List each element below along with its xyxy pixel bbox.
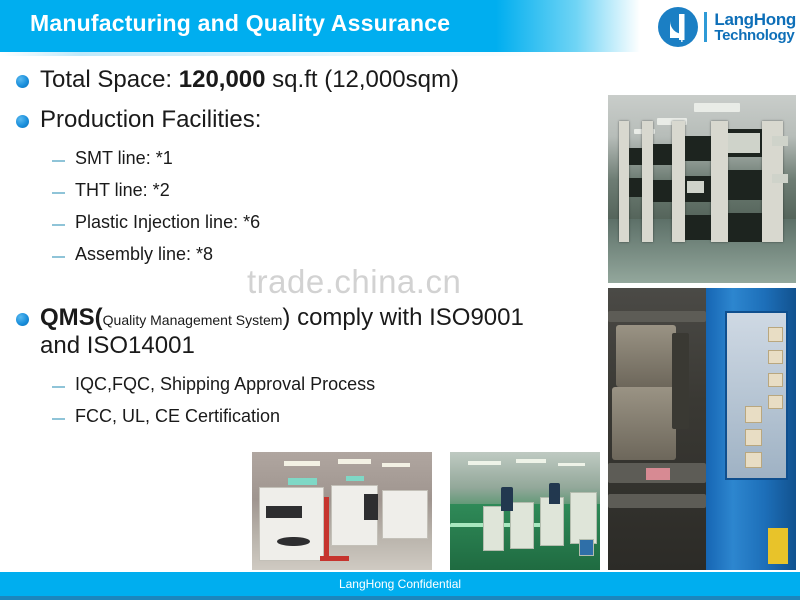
bullet-total-space-text: Total Space: 120,000 sq.ft (12,000sqm) [40, 66, 459, 94]
bullet-dot-icon [16, 313, 29, 326]
langhong-circle-logo-icon [657, 6, 699, 48]
qms-expansion: Quality Management System [103, 312, 283, 328]
dash-icon [52, 418, 65, 420]
bullet-dot-icon [16, 75, 29, 88]
bullet-production-facilities: Production Facilities: [16, 106, 261, 134]
logo-line-2: Technology [714, 28, 796, 43]
bullet-qms-text: QMS(Quality Management System) comply wi… [40, 304, 615, 361]
bullet-qms: QMS(Quality Management System) comply wi… [16, 304, 615, 361]
photo-injection-molding-machine [608, 288, 796, 570]
footer-confidential-label: LangHong Confidential [0, 577, 800, 591]
sub-item-label: Plastic Injection line: *6 [75, 212, 260, 234]
sub-item-label: FCC, UL, CE Certification [75, 406, 280, 428]
photo-smt-production-line [252, 452, 432, 570]
photo-warehouse-racking [608, 95, 796, 283]
logo-divider [704, 12, 707, 42]
dash-icon [52, 192, 65, 194]
dash-icon [52, 160, 65, 162]
dash-icon [52, 386, 65, 388]
sub-item-plastic-injection-line: Plastic Injection line: *6 [52, 212, 260, 234]
sub-item-iqc-fqc: IQC,FQC, Shipping Approval Process [52, 374, 375, 396]
footer-bottom-rule [0, 596, 800, 600]
logo-line-1: LangHong [714, 11, 796, 28]
sub-item-tht-line: THT line: *2 [52, 180, 170, 202]
bullet-dot-icon [16, 115, 29, 128]
page-title: Manufacturing and Quality Assurance [30, 10, 450, 37]
bullet-production-facilities-text: Production Facilities: [40, 106, 261, 134]
qms-line2: and ISO14001 [40, 332, 195, 359]
dash-icon [52, 224, 65, 226]
sub-item-label: THT line: *2 [75, 180, 170, 202]
sub-item-label: SMT line: *1 [75, 148, 173, 170]
qms-suffix: ) comply with ISO9001 [282, 304, 523, 331]
bullet-total-space: Total Space: 120,000 sq.ft (12,000sqm) [16, 66, 459, 94]
sub-item-smt-line: SMT line: *1 [52, 148, 173, 170]
company-logo: LangHong Technology [657, 4, 796, 50]
sub-item-certifications: FCC, UL, CE Certification [52, 406, 280, 428]
total-space-suffix: sq.ft (12,000sqm) [266, 66, 459, 93]
slide-footer-bar: LangHong Confidential [0, 572, 800, 600]
total-space-prefix: Total Space: [40, 66, 179, 93]
total-space-value: 120,000 [179, 66, 266, 93]
sub-item-label: Assembly line: *8 [75, 244, 213, 266]
photo-assembly-production-line [450, 452, 600, 570]
sub-item-assembly-line: Assembly line: *8 [52, 244, 213, 266]
logo-wordmark: LangHong Technology [714, 11, 796, 43]
dash-icon [52, 256, 65, 258]
sub-item-label: IQC,FQC, Shipping Approval Process [75, 374, 375, 396]
qms-acronym: QMS( [40, 304, 103, 331]
